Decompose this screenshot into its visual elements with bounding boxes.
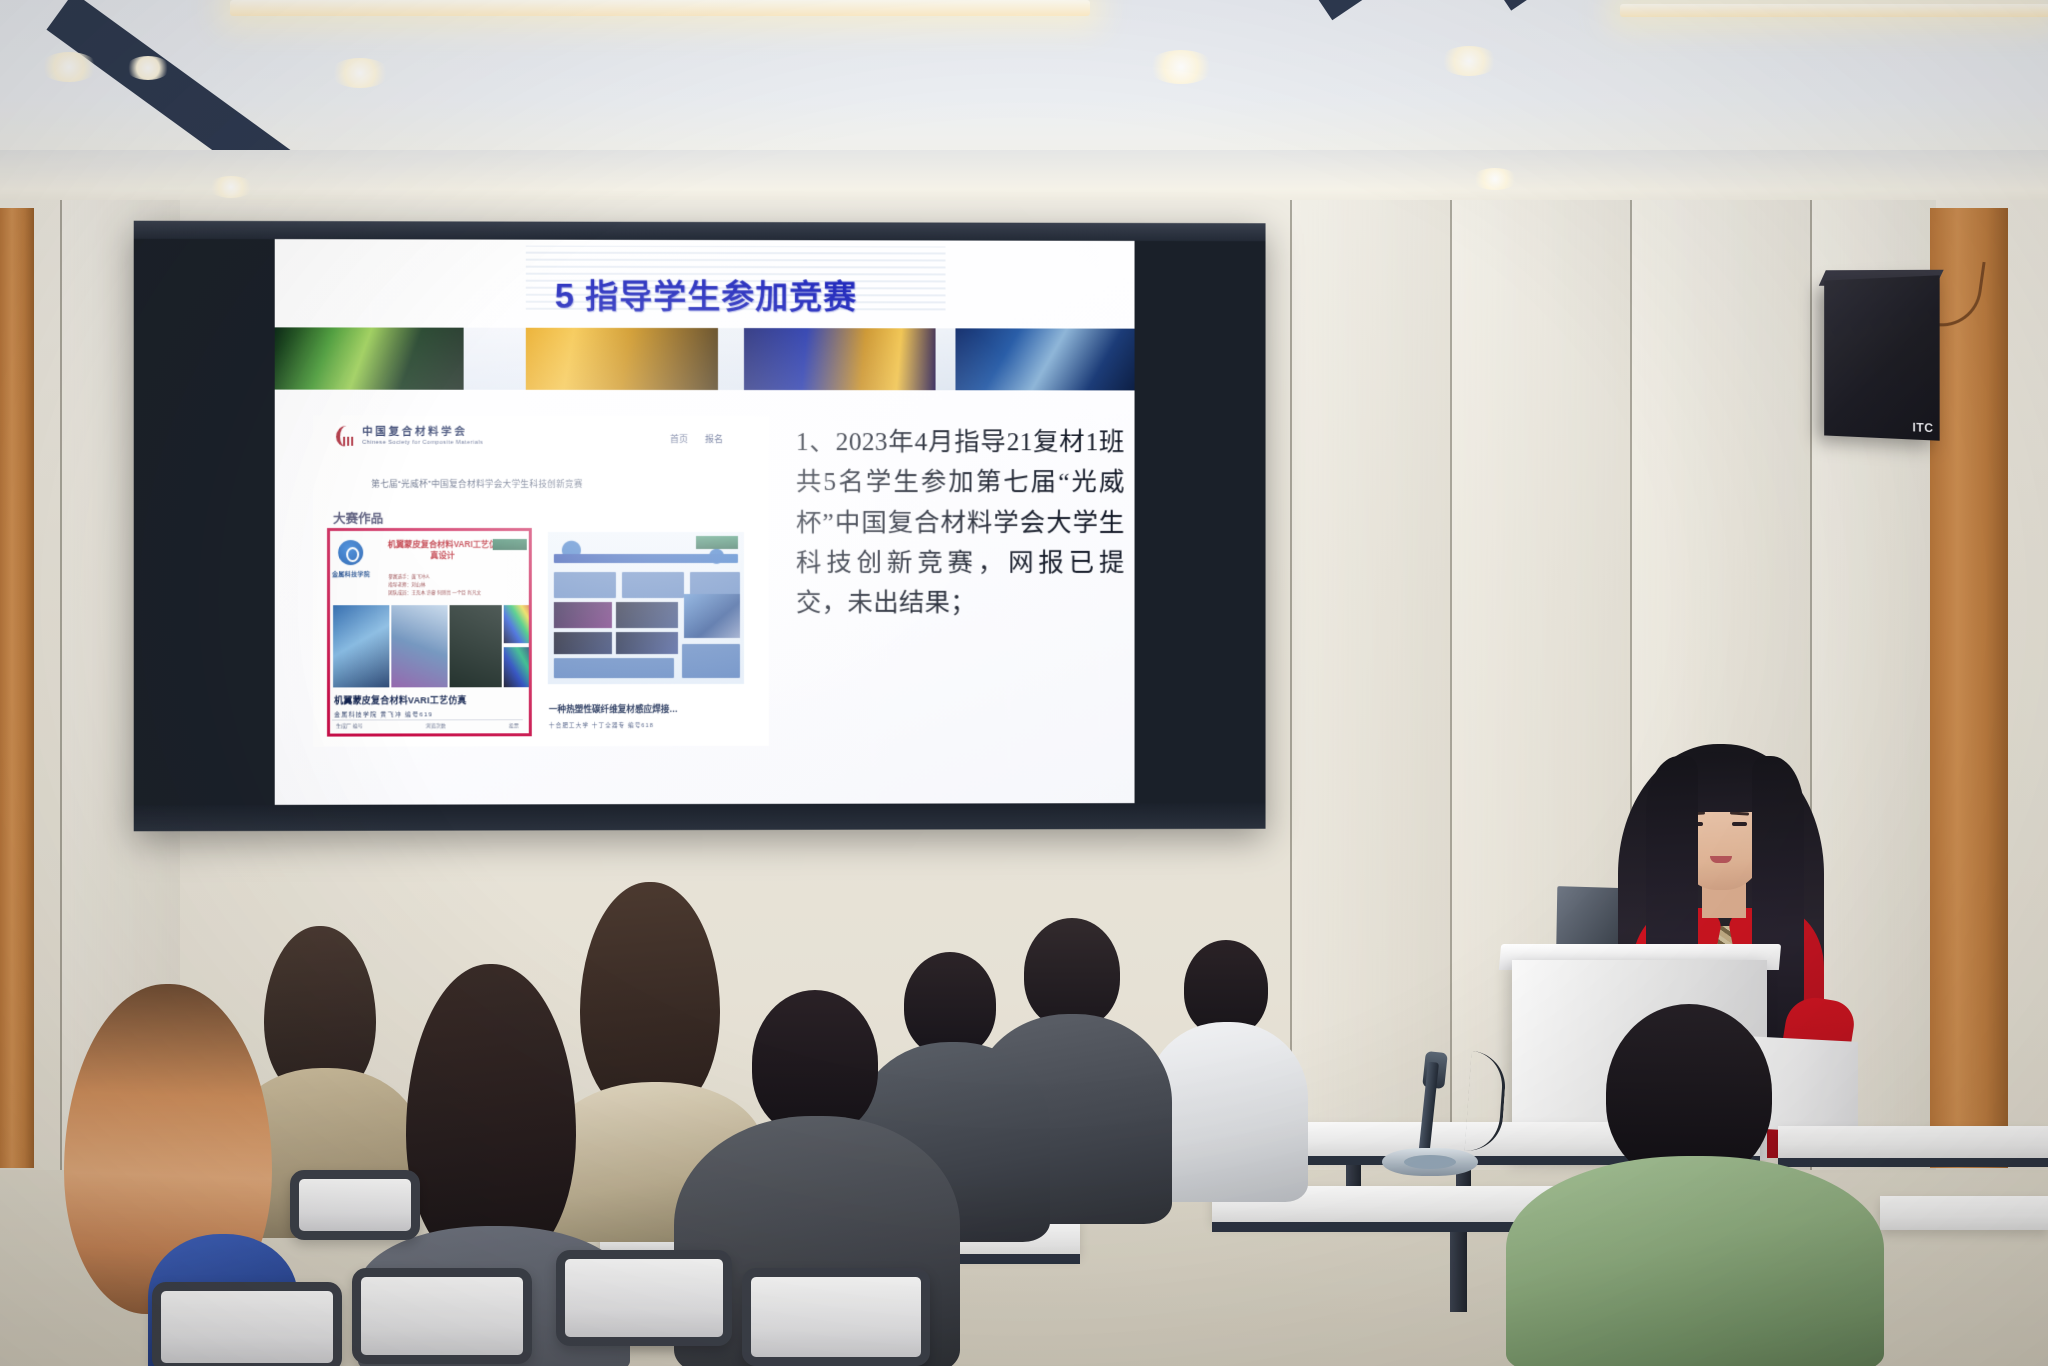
screen-top-bar [134,221,1266,241]
desk-row [1880,1196,2048,1230]
wall-speaker: ITC [1824,275,1939,440]
band-gap [718,328,744,390]
chair[interactable] [742,1268,930,1366]
poster-header: 金属科技学院 机翼蒙皮复合材料VARI工艺仿真设计 参赛选手：黄飞冲人 指导老师… [330,535,529,607]
presenter-eye [1732,822,1747,826]
poster-text-block [622,572,684,598]
linear-light-fixture [1620,4,2048,17]
entry-footer-mid: 浏览次数 [426,722,446,729]
wall-panel [1290,200,1450,1200]
webpage-nav: 首页 报名 [670,432,723,445]
slide-title-text: 指导学生参加竞赛 [585,278,857,315]
poster-text-block [682,644,740,678]
chair[interactable] [556,1250,732,1346]
chair[interactable] [290,1170,420,1240]
downlight-icon [40,52,98,82]
poster-text-block [554,658,674,678]
nav-item-signup[interactable]: 报名 [705,432,723,445]
entry-footer-left: 生成厂 编号 [336,722,363,729]
audience-member [1528,1004,1858,1366]
hair [406,964,576,1264]
nav-item-home[interactable]: 首页 [670,432,688,445]
poster-figure-heatmap [504,647,532,687]
poster-figure [684,594,740,638]
slide-title-number: 5 [555,277,576,316]
poster-board [548,532,744,684]
entry-caption: 机翼蒙皮复合材料VARI工艺仿真 [334,693,467,706]
entry-card[interactable]: 一种热塑性碳纤维复材感应焊接… 十合肥工大学 十丁全器专 编号618 [544,528,748,736]
downlight-icon [1148,50,1214,84]
entry-subcaption: 十合肥工大学 十丁全器专 编号618 [549,721,654,729]
breadcrumb: 第七届“光威杯”中国复合材料学会大学生科技创新竞赛 [371,478,755,490]
band-segment-orange [526,328,718,390]
slide-title: 5 指导学生参加竞赛 [275,269,1135,318]
poster-figure-grid [333,605,532,689]
poster-meta-line: 指导老师：刘山林 [388,581,481,589]
entry-card-inner: 一种热塑性碳纤维复材感应焊接… 十合肥工大学 十丁全器专 编号618 [544,528,748,736]
entry-footer: 生成厂 编号 浏览次数 投票 [332,719,523,731]
band-gap [936,328,956,390]
poster-figure [333,605,389,687]
desktop-microphone [1382,1148,1478,1176]
poster-title: 机翼蒙皮复合材料VARI工艺仿真设计 [386,539,498,561]
poster-figure [616,632,678,654]
downlight-icon [1472,168,1518,190]
wood-column [1930,208,2008,1168]
entry-caption: 一种热塑性碳纤维复材感应焊接… [549,703,678,715]
society-logo: 中国复合材料学会 Chinese Society for Composite M… [335,426,483,447]
band-segment-blue-orange [744,328,936,390]
school-emblem-icon [338,540,363,565]
entry-footer-right[interactable]: 投票 [509,722,519,729]
desk-leg [1450,1232,1467,1312]
slide-body-text: 1、2023年4月指导21复材1班共5名学生参加第七届“光威杯”中国复合材料学会… [796,422,1125,623]
entry-badge [493,539,527,550]
band-gap [464,328,526,390]
poster-figure [554,602,612,628]
poster-figure [450,605,502,687]
poster-title-bar [554,554,738,563]
downlight-icon [126,56,170,80]
downlight-icon [208,176,254,198]
poster-school: 金属科技学院 [332,569,370,578]
band-segment-keyboard [955,328,1134,390]
presentation-slide: 5 指导学生参加竞赛 中国复合材料学会 Chinese Society [275,239,1135,813]
society-logo-cn: 中国复合材料学会 [362,426,483,438]
society-logo-en: Chinese Society for Composite Materials [362,440,483,446]
poster-meta-line: 团队成员：王克木 许睿 何则亮 一个臣 肖凡文 [388,589,481,597]
speaker-brand-label: ITC [1912,420,1933,435]
entry-badge [696,536,738,549]
screen-letterbox-left [134,239,275,813]
embedded-webpage-screenshot: 中国复合材料学会 Chinese Society for Composite M… [313,416,769,747]
poster-text-block [554,572,616,598]
downlight-icon [1440,46,1498,76]
chair[interactable] [152,1282,342,1366]
entry-card-inner: 金属科技学院 机翼蒙皮复合材料VARI工艺仿真设计 参赛选手：黄飞冲人 指导老师… [330,531,529,734]
band-segment-green [275,327,464,389]
poster-figure-heatmap [504,605,532,643]
wood-column [0,208,34,1168]
poster-meta-line: 参赛选手：黄飞冲人 [388,573,481,581]
poster-figure [554,632,612,654]
poster-figure [616,602,678,628]
downlight-icon [330,58,390,88]
section-label: 大赛作品 [333,508,383,527]
presenter-mouth [1710,856,1732,863]
lecture-hall-scene: ITC 5 指导学生参加竞赛 [0,0,2048,1366]
audience-member [1150,940,1300,1200]
torso [1506,1156,1884,1366]
head [1024,918,1120,1028]
screen-letterbox-right [1135,241,1266,811]
competition-entry-cards: 金属科技学院 机翼蒙皮复合材料VARI工艺仿真设计 参赛选手：黄飞冲人 指导老师… [327,528,748,737]
projection-screen: 5 指导学生参加竞赛 中国复合材料学会 Chinese Society [134,221,1266,832]
screen-bottom-bar [134,803,1266,831]
chair[interactable] [352,1268,532,1364]
linear-light-fixture [230,0,1090,16]
slide-image-band [275,327,1135,390]
society-logo-mark-icon [335,426,355,447]
entry-card[interactable]: 金属科技学院 机翼蒙皮复合材料VARI工艺仿真设计 参赛选手：黄飞冲人 指导老师… [327,528,532,737]
poster-meta: 参赛选手：黄飞冲人 指导老师：刘山林 团队成员：王克木 许睿 何则亮 一个臣 肖… [388,573,481,597]
head [752,990,878,1136]
poster-figure [391,605,447,687]
entry-subcaption: 金属科技学院 黄飞冲 编号619 [334,709,433,718]
